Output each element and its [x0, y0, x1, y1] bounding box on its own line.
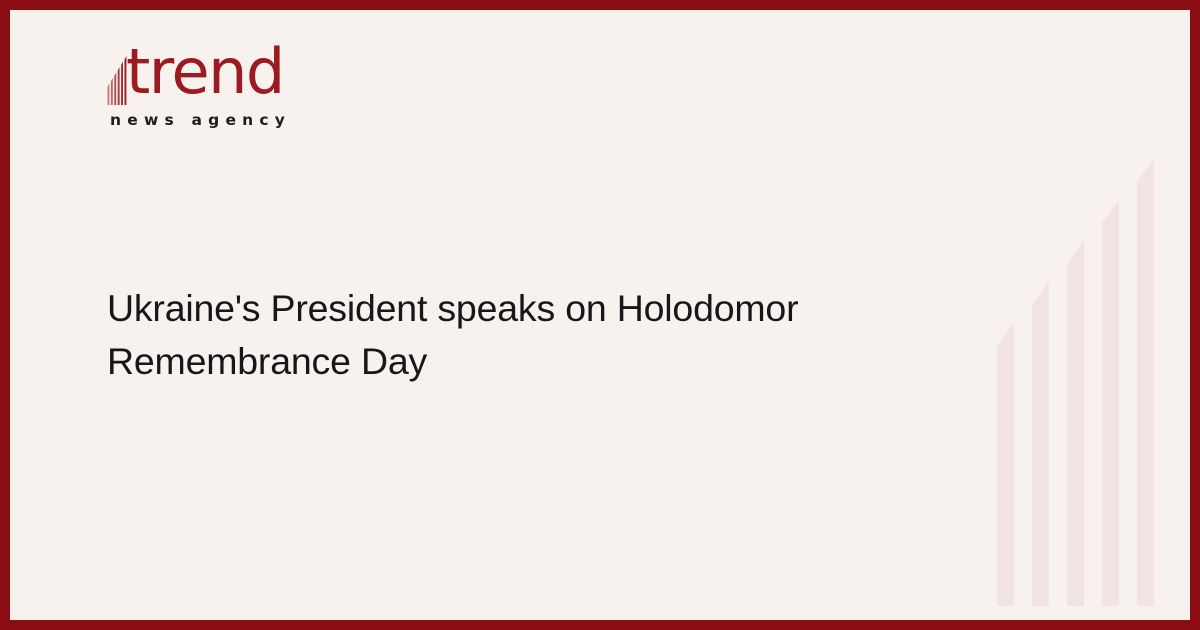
watermark-bar-5 — [1137, 158, 1154, 606]
watermark-bars — [997, 158, 1154, 606]
watermark-svg — [985, 10, 1185, 630]
ascending-bars-watermark — [985, 10, 1185, 630]
trend-news-agency-logo[interactable]: trend news agency — [107, 50, 437, 145]
logo-tagline: news agency — [110, 111, 291, 129]
watermark-bar-1 — [997, 322, 1014, 606]
watermark-bar-4 — [1102, 199, 1119, 606]
watermark-bar-3 — [1067, 240, 1084, 606]
logo-wordmark: trend — [126, 41, 284, 103]
article-headline: Ukraine's President speaks on Holodomor … — [107, 282, 897, 389]
logo-wordmark-row: trend — [107, 50, 437, 108]
watermark-bar-2 — [1032, 281, 1049, 606]
social-share-card: trend news agency Ukraine's President sp… — [0, 0, 1200, 630]
logo-mark-bars — [108, 56, 127, 105]
